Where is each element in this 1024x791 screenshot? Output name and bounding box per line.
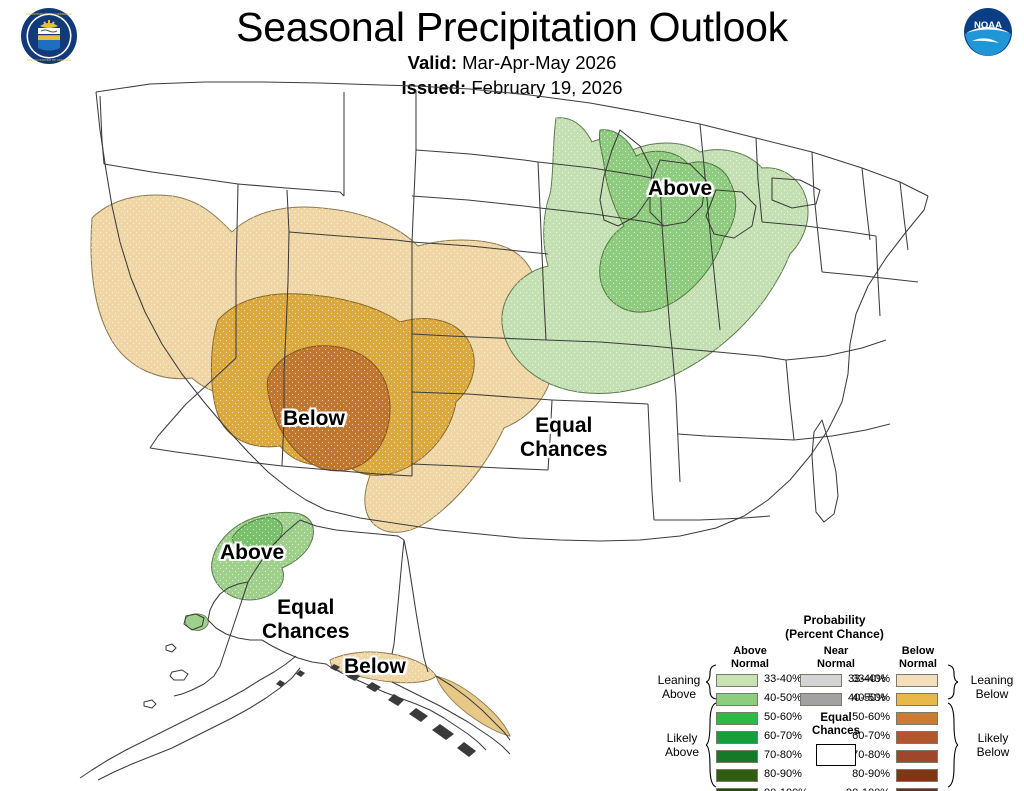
legend-likely-above-label: Likely Above	[655, 732, 709, 759]
legend-below-swatch-33to40	[896, 674, 938, 687]
map-label-below-southwest: Below	[283, 407, 345, 431]
legend-title: Probability (Percent Chance)	[645, 614, 1024, 641]
legend-below-label-90to100: 90-100%	[838, 787, 890, 791]
legend-above-swatch-70to80	[716, 750, 758, 763]
legend-above-label-80to90: 80-90%	[764, 768, 802, 781]
legend-below-swatch-50to60	[896, 712, 938, 725]
legend-above-label-40to50: 40-50%	[764, 692, 802, 705]
legend-near-swatch-33to40	[800, 674, 842, 687]
map-label-below-alaska: Below	[344, 655, 406, 679]
near-head-line1: Near	[793, 645, 879, 658]
legend-above-label-33to40: 33-40%	[764, 673, 802, 686]
legend-likely-below-label: Likely Below	[966, 732, 1020, 759]
legend-title-line1: Probability	[645, 614, 1024, 628]
legend-ec-line2: Chances	[793, 725, 879, 738]
legend-ec-line1: Equal	[793, 712, 879, 725]
likely-below-line1: Likely	[966, 732, 1020, 746]
legend-near-swatch-40to50	[800, 693, 842, 706]
legend-below-swatch-60to70	[896, 731, 938, 744]
legend-above-label-70to80: 70-80%	[764, 749, 802, 762]
likely-above-line2: Above	[655, 746, 709, 760]
legend-below-label-33to40: 33-40%	[838, 673, 890, 686]
legend-above-swatch-60to70	[716, 731, 758, 744]
legend-equal-chances-label: Equal Chances	[793, 712, 879, 738]
equal-chances-line2: Chances	[520, 438, 608, 462]
likely-below-line2: Below	[966, 746, 1020, 760]
map-label-above-alaska: Above	[220, 541, 284, 565]
legend-below-label-40to50: 40-50%	[838, 692, 890, 705]
equal-chances-line1: Equal	[520, 414, 608, 438]
legend-above-label-90to100: 90-100%	[764, 787, 808, 791]
leaning-above-line1: Leaning	[650, 674, 708, 688]
brace-leaning-below	[946, 664, 958, 700]
above-head-line2: Normal	[707, 658, 793, 671]
map-label-above-great-lakes: Above	[648, 177, 712, 201]
near-head-line2: Normal	[793, 658, 879, 671]
brace-likely-above	[706, 702, 718, 788]
map-label-equal-chances-central: Equal Chances	[520, 414, 608, 461]
legend-above-swatch-50to60	[716, 712, 758, 725]
legend-below-swatch-70to80	[896, 750, 938, 763]
legend-above-swatch-40to50	[716, 693, 758, 706]
legend-leaning-below-label: Leaning Below	[963, 674, 1021, 701]
legend-column-header-near-normal: Near Normal	[793, 645, 879, 670]
brace-leaning-above	[706, 664, 718, 700]
legend-equal-chances-swatch	[816, 744, 856, 766]
legend-below-swatch-80to90	[896, 769, 938, 782]
map-label-equal-chances-alaska: Equal Chances	[262, 596, 350, 643]
legend-column-header-above-normal: Above Normal	[707, 645, 793, 670]
leaning-below-line2: Below	[963, 688, 1021, 702]
likely-above-line1: Likely	[655, 732, 709, 746]
outlook-page: Seasonal Precipitation Outlook Valid: Ma…	[0, 0, 1024, 791]
leaning-below-line1: Leaning	[963, 674, 1021, 688]
below-head-line1: Below	[875, 645, 961, 658]
brace-likely-below	[946, 702, 958, 788]
legend-below-swatch-40to50	[896, 693, 938, 706]
legend-title-line2: (Percent Chance)	[645, 628, 1024, 642]
legend-above-swatch-33to40	[716, 674, 758, 687]
equal-chances-alaska-line2: Chances	[262, 620, 350, 644]
leaning-above-line2: Above	[650, 688, 708, 702]
legend-leaning-above-label: Leaning Above	[650, 674, 708, 701]
legend-below-label-80to90: 80-90%	[838, 768, 890, 781]
above-head-line1: Above	[707, 645, 793, 658]
legend-above-swatch-80to90	[716, 769, 758, 782]
equal-chances-alaska-line1: Equal	[262, 596, 350, 620]
